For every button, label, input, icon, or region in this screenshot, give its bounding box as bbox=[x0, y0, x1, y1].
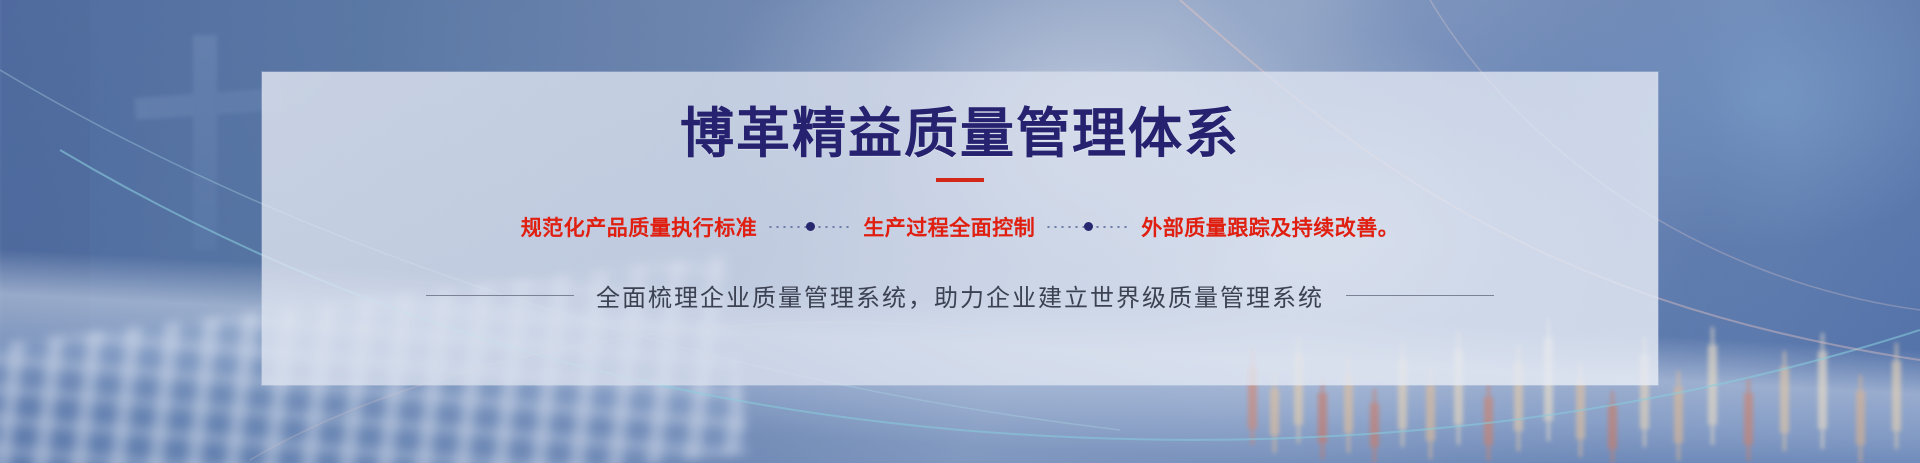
dotted-separator-icon bbox=[767, 218, 853, 236]
subtitle-segment-3: 外部质量跟踪及持续改善。 bbox=[1141, 212, 1399, 242]
content-panel: 博革精益质量管理体系 规范化产品质量执行标准 生产过程全面控制 外部质量跟踪及持… bbox=[262, 72, 1658, 385]
hero-banner: 博革精益质量管理体系 规范化产品质量执行标准 生产过程全面控制 外部质量跟踪及持… bbox=[0, 0, 1920, 463]
tagline-rule-right bbox=[1346, 295, 1494, 296]
page-title: 博革精益质量管理体系 bbox=[680, 104, 1240, 164]
dotted-separator-icon bbox=[1045, 218, 1131, 236]
subtitle-segment-2: 生产过程全面控制 bbox=[863, 212, 1035, 242]
subtitle-row: 规范化产品质量执行标准 生产过程全面控制 外部质量跟踪及持续改善。 bbox=[521, 212, 1400, 242]
tagline-row: 全面梳理企业质量管理系统，助力企业建立世界级质量管理系统 bbox=[426, 278, 1494, 313]
title-accent-rule bbox=[936, 178, 984, 182]
tagline-rule-left bbox=[426, 295, 574, 296]
tagline-text: 全面梳理企业质量管理系统，助力企业建立世界级质量管理系统 bbox=[596, 278, 1324, 313]
subtitle-segment-1: 规范化产品质量执行标准 bbox=[521, 212, 758, 242]
